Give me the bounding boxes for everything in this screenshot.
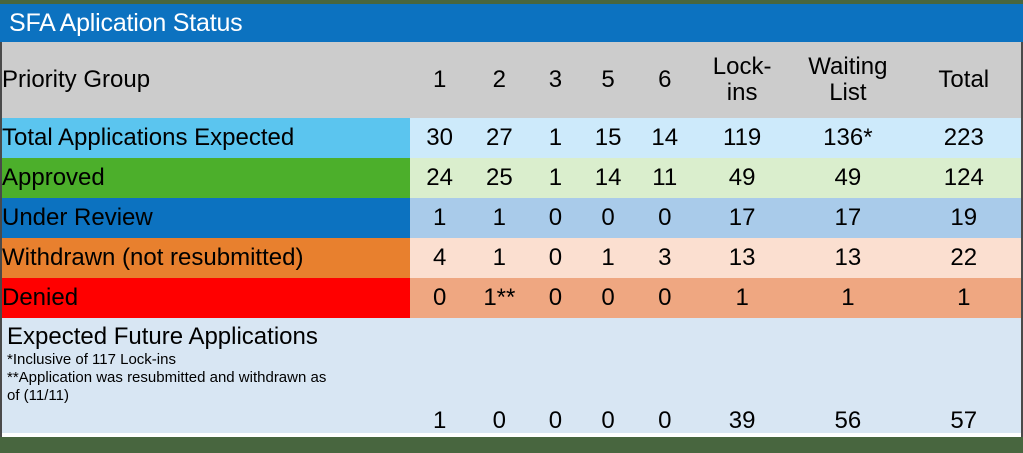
row-label-withdrawn: Withdrawn (not resubmitted) [2, 238, 410, 278]
row-label-under-review: Under Review [2, 198, 410, 238]
cell-under-review-2: 1 [469, 198, 529, 238]
cell-expected-future-3: 0 [529, 318, 582, 433]
cell-approved-1: 24 [410, 158, 470, 198]
cell-denied-6: 0 [634, 278, 695, 318]
cell-withdrawn-1: 4 [410, 238, 470, 278]
footnote-two-line1: **Application was resubmitted and withdr… [7, 369, 405, 387]
header-col-2-line1: 2 [469, 67, 529, 93]
header-col-1-line1: 1 [410, 67, 470, 93]
table-row: Under Review 1 1 0 0 0 17 17 19 [2, 198, 1021, 238]
cell-withdrawn-5: 1 [582, 238, 635, 278]
header-priority-group: Priority Group [2, 42, 410, 118]
header-col-1: 1 [410, 42, 470, 118]
header-col-3: 3 [529, 42, 582, 118]
cell-total-applications-expected-3: 1 [529, 118, 582, 158]
cell-denied-total: 1 [907, 278, 1021, 318]
cell-approved-lockins: 49 [695, 158, 789, 198]
cell-withdrawn-6: 3 [634, 238, 695, 278]
cell-withdrawn-lockins: 13 [695, 238, 789, 278]
header-col-3-line1: 3 [529, 67, 582, 93]
footer-label-cell: Expected Future Applications *Inclusive … [2, 318, 410, 433]
row-label-denied: Denied [2, 278, 410, 318]
header-col-5: 5 [582, 42, 635, 118]
header-waiting-line1: Waiting [789, 54, 906, 80]
cell-approved-total: 124 [907, 158, 1021, 198]
cell-expected-future-waiting-list: 56 [789, 318, 906, 433]
footnote-one: *Inclusive of 117 Lock-ins [7, 351, 405, 369]
table-row: Denied 0 1** 0 0 0 1 1 1 [2, 278, 1021, 318]
cell-approved-6: 11 [634, 158, 695, 198]
header-col-5-line1: 5 [582, 67, 635, 93]
table-row: Withdrawn (not resubmitted) 4 1 0 1 3 13… [2, 238, 1021, 278]
cell-under-review-total: 19 [907, 198, 1021, 238]
cell-under-review-1: 1 [410, 198, 470, 238]
row-label-total-applications-expected: Total Applications Expected [2, 118, 410, 158]
title-bar: SFA Aplication Status [0, 4, 1023, 42]
cell-total-applications-expected-lockins: 119 [695, 118, 789, 158]
cell-withdrawn-2: 1 [469, 238, 529, 278]
cell-total-applications-expected-1: 30 [410, 118, 470, 158]
cell-approved-waiting-list: 49 [789, 158, 906, 198]
cell-denied-waiting-list: 1 [789, 278, 906, 318]
cell-denied-3: 0 [529, 278, 582, 318]
cell-total-applications-expected-total: 223 [907, 118, 1021, 158]
table-row: Approved 24 25 1 14 11 49 49 124 [2, 158, 1021, 198]
cell-under-review-6: 0 [634, 198, 695, 238]
cell-denied-2: 1** [469, 278, 529, 318]
header-col-total: Total [907, 42, 1021, 118]
status-table: Priority Group 1 2 3 5 6 [2, 42, 1021, 433]
cell-approved-5: 14 [582, 158, 635, 198]
cell-expected-future-5: 0 [582, 318, 635, 433]
table-footer-row: Expected Future Applications *Inclusive … [2, 318, 1021, 433]
cell-total-applications-expected-2: 27 [469, 118, 529, 158]
header-col-6-line1: 6 [634, 67, 695, 93]
cell-approved-2: 25 [469, 158, 529, 198]
footnote-two-line2: of (11/11) [7, 387, 405, 405]
cell-withdrawn-3: 0 [529, 238, 582, 278]
cell-under-review-3: 0 [529, 198, 582, 238]
page-title: SFA Aplication Status [9, 11, 242, 36]
table-header-row: Priority Group 1 2 3 5 6 [2, 42, 1021, 118]
cell-total-applications-expected-waiting-list: 136* [789, 118, 906, 158]
cell-expected-future-1: 1 [410, 318, 470, 433]
cell-denied-lockins: 1 [695, 278, 789, 318]
row-label-approved: Approved [2, 158, 410, 198]
header-col-waiting-list: Waiting List [789, 42, 906, 118]
header-total-line2: Total [907, 67, 1021, 93]
cell-under-review-5: 0 [582, 198, 635, 238]
header-col-6: 6 [634, 42, 695, 118]
footer-title: Expected Future Applications [7, 324, 405, 351]
cell-expected-future-total: 57 [907, 318, 1021, 433]
cell-denied-1: 0 [410, 278, 470, 318]
cell-approved-3: 1 [529, 158, 582, 198]
cell-expected-future-2: 0 [469, 318, 529, 433]
header-waiting-line2: List [789, 80, 906, 106]
cell-under-review-waiting-list: 17 [789, 198, 906, 238]
header-lockins-line1: Lock- [695, 54, 789, 80]
bottom-border-band [0, 437, 1023, 453]
cell-total-applications-expected-6: 14 [634, 118, 695, 158]
table-row: Total Applications Expected 30 27 1 15 1… [2, 118, 1021, 158]
cell-withdrawn-total: 22 [907, 238, 1021, 278]
cell-expected-future-6: 0 [634, 318, 695, 433]
slide-canvas: SFA Aplication Status Priority Group 1 2 [0, 0, 1023, 453]
cell-denied-5: 0 [582, 278, 635, 318]
cell-total-applications-expected-5: 15 [582, 118, 635, 158]
cell-expected-future-lockins: 39 [695, 318, 789, 433]
header-col-lockins: Lock- ins [695, 42, 789, 118]
status-table-container: Priority Group 1 2 3 5 6 [0, 42, 1023, 437]
header-lockins-line2: ins [695, 80, 789, 106]
cell-withdrawn-waiting-list: 13 [789, 238, 906, 278]
header-col-2: 2 [469, 42, 529, 118]
cell-under-review-lockins: 17 [695, 198, 789, 238]
footer-text-block: Expected Future Applications *Inclusive … [7, 324, 405, 406]
